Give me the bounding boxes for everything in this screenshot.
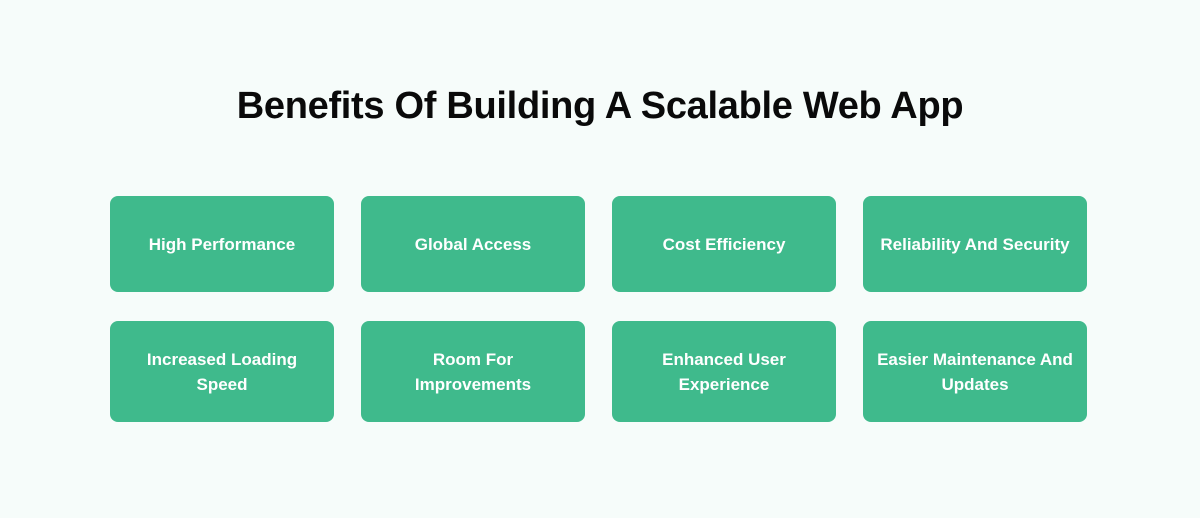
benefit-card-easier-maintenance-and-updates[interactable]: Easier Maintenance And Updates: [863, 321, 1087, 422]
benefit-card-room-for-improvements[interactable]: Room For Improvements: [361, 321, 585, 422]
benefit-card-label: Enhanced User Experience: [626, 347, 822, 397]
infographic-root: Benefits Of Building A Scalable Web App …: [0, 0, 1200, 518]
benefit-card-enhanced-user-experience[interactable]: Enhanced User Experience: [612, 321, 836, 422]
benefit-card-increased-loading-speed[interactable]: Increased Loading Speed: [110, 321, 334, 422]
benefit-card-cost-efficiency[interactable]: Cost Efficiency: [612, 196, 836, 292]
benefit-card-label: Increased Loading Speed: [124, 347, 320, 397]
benefits-card-grid: High Performance Global Access Cost Effi…: [110, 196, 1088, 417]
benefit-card-global-access[interactable]: Global Access: [361, 196, 585, 292]
benefit-card-label: Easier Maintenance And Updates: [877, 347, 1073, 397]
benefit-card-label: High Performance: [149, 232, 295, 257]
benefit-card-label: Cost Efficiency: [663, 232, 786, 257]
benefit-card-label: Room For Improvements: [375, 347, 571, 397]
benefit-card-label: Global Access: [415, 232, 532, 257]
benefit-card-label: Reliability And Security: [880, 232, 1069, 257]
benefit-card-high-performance[interactable]: High Performance: [110, 196, 334, 292]
benefit-card-reliability-and-security[interactable]: Reliability And Security: [863, 196, 1087, 292]
page-title: Benefits Of Building A Scalable Web App: [0, 82, 1200, 130]
